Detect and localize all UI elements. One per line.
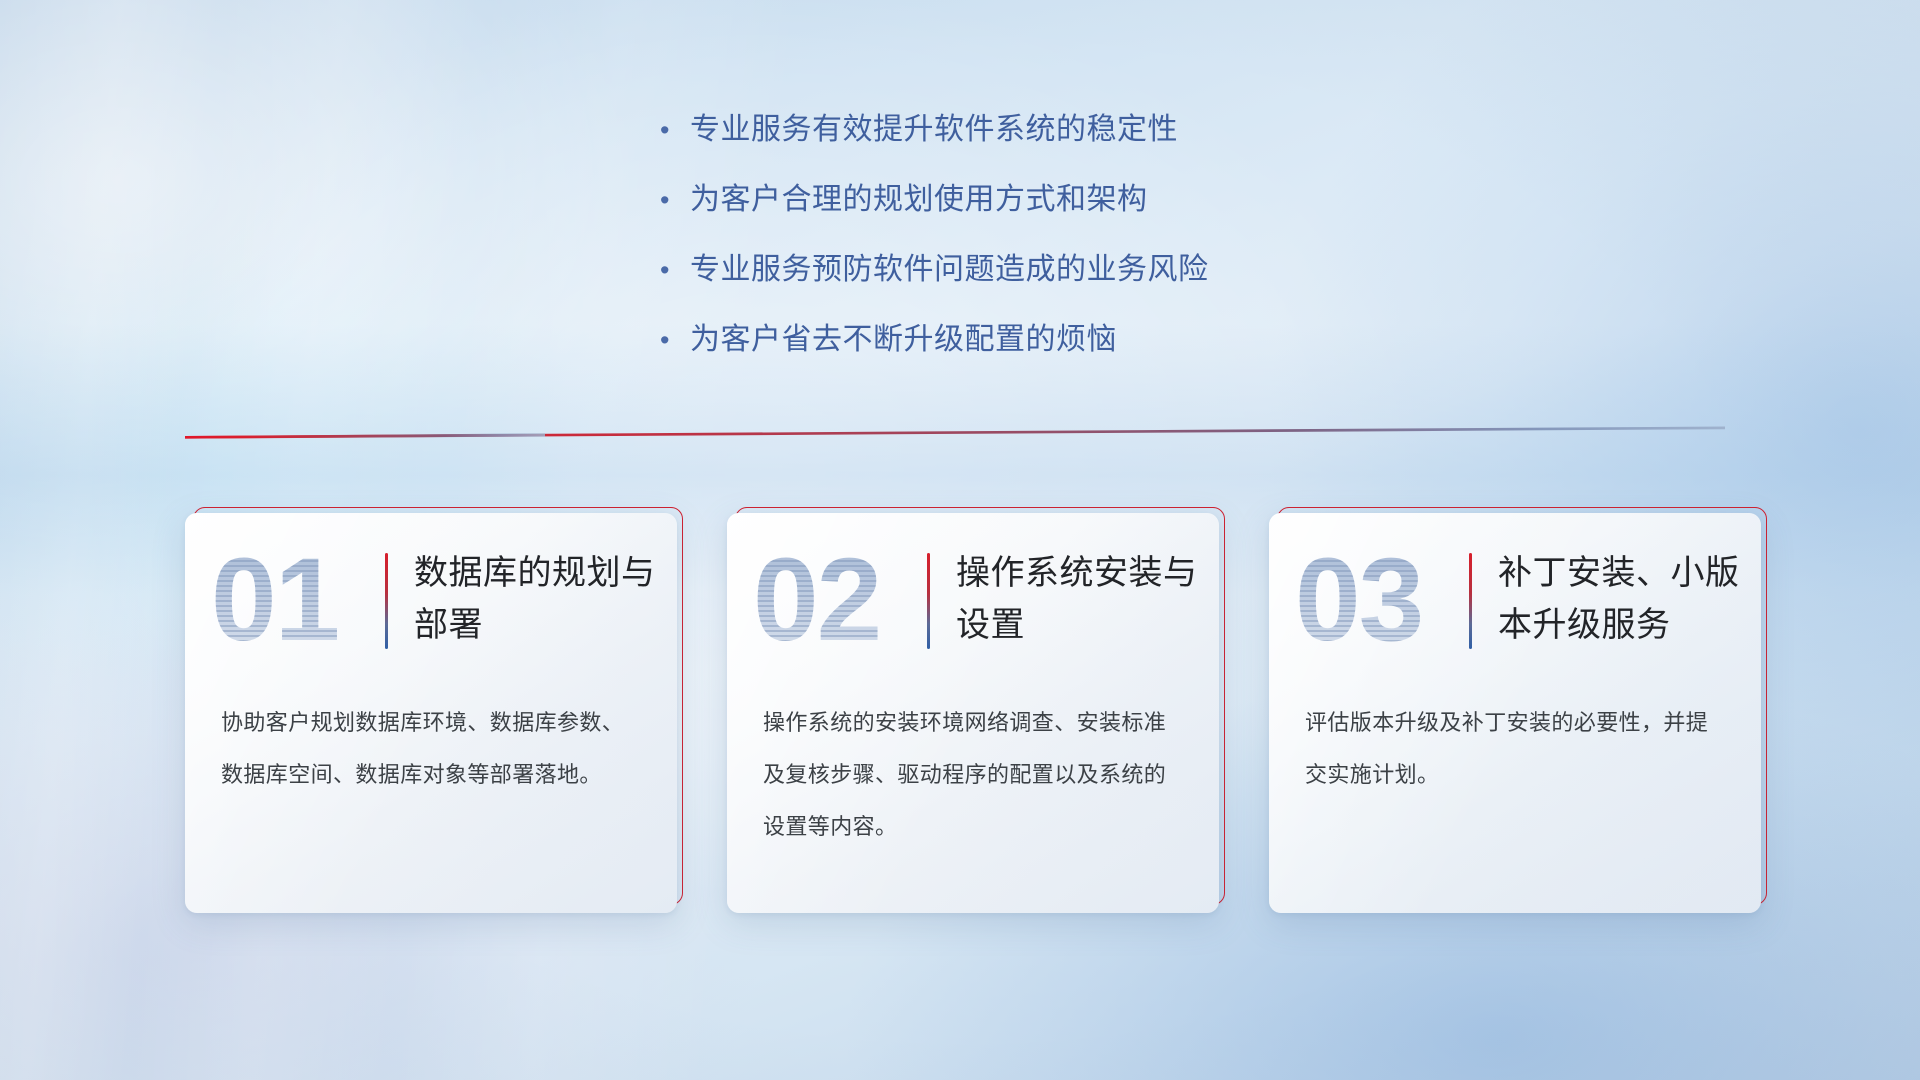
card-title: 操作系统安装与设置 <box>956 547 1204 651</box>
bullet-item-label: 专业服务预防软件问题造成的业务风险 <box>690 248 1209 292</box>
bullet-item-label: 为客户省去不断升级配置的烦恼 <box>690 318 1117 362</box>
bullet-item: • 专业服务有效提升软件系统的稳定性 <box>660 108 1209 152</box>
card-description: 协助客户规划数据库环境、数据库参数、数据库空间、数据库对象等部署落地。 <box>221 697 641 801</box>
card-accent-rule <box>385 553 388 649</box>
card-description: 评估版本升级及补丁安装的必要性，并提交实施计划。 <box>1305 697 1725 801</box>
section-divider <box>185 424 1725 442</box>
service-card[interactable]: 02 操作系统安装与设置 操作系统的安装环境网络调查、安装标准及复核步骤、驱动程… <box>727 513 1219 913</box>
bullet-dot-icon: • <box>660 248 690 292</box>
card-header: 03 补丁安装、小版本升级服务 <box>1269 513 1761 689</box>
bullet-item: • 为客户省去不断升级配置的烦恼 <box>660 318 1209 362</box>
card-accent-rule <box>927 553 930 649</box>
card-surface: 02 操作系统安装与设置 操作系统的安装环境网络调查、安装标准及复核步骤、驱动程… <box>727 513 1219 913</box>
service-card-list: 01 数据库的规划与部署 协助客户规划数据库环境、数据库参数、数据库空间、数据库… <box>185 513 1761 913</box>
card-ghost-number: 03 <box>1295 535 1422 665</box>
service-card[interactable]: 01 数据库的规划与部署 协助客户规划数据库环境、数据库参数、数据库空间、数据库… <box>185 513 677 913</box>
card-ghost-number: 02 <box>753 535 880 665</box>
card-surface: 01 数据库的规划与部署 协助客户规划数据库环境、数据库参数、数据库空间、数据库… <box>185 513 677 913</box>
card-description: 操作系统的安装环境网络调查、安装标准及复核步骤、驱动程序的配置以及系统的设置等内… <box>763 697 1183 853</box>
bullet-dot-icon: • <box>660 318 690 362</box>
bullet-dot-icon: • <box>660 178 690 222</box>
card-surface: 03 补丁安装、小版本升级服务 评估版本升级及补丁安装的必要性，并提交实施计划。 <box>1269 513 1761 913</box>
card-title: 补丁安装、小版本升级服务 <box>1498 547 1746 651</box>
card-title: 数据库的规划与部署 <box>414 547 662 651</box>
bullet-item: • 专业服务预防软件问题造成的业务风险 <box>660 248 1209 292</box>
card-title-group: 数据库的规划与部署 <box>385 547 662 651</box>
bullet-item-label: 为客户合理的规划使用方式和架构 <box>690 178 1148 222</box>
card-ghost-number: 01 <box>211 535 338 665</box>
card-header: 01 数据库的规划与部署 <box>185 513 677 689</box>
card-title-group: 操作系统安装与设置 <box>927 547 1204 651</box>
bullet-item-label: 专业服务有效提升软件系统的稳定性 <box>690 108 1178 152</box>
bullet-dot-icon: • <box>660 108 690 152</box>
card-header: 02 操作系统安装与设置 <box>727 513 1219 689</box>
card-accent-rule <box>1469 553 1472 649</box>
service-card[interactable]: 03 补丁安装、小版本升级服务 评估版本升级及补丁安装的必要性，并提交实施计划。 <box>1269 513 1761 913</box>
benefits-bullet-list: • 专业服务有效提升软件系统的稳定性 • 为客户合理的规划使用方式和架构 • 专… <box>660 108 1209 388</box>
card-title-group: 补丁安装、小版本升级服务 <box>1469 547 1746 651</box>
divider-wedge-shape <box>185 424 1725 442</box>
bullet-item: • 为客户合理的规划使用方式和架构 <box>660 178 1209 222</box>
